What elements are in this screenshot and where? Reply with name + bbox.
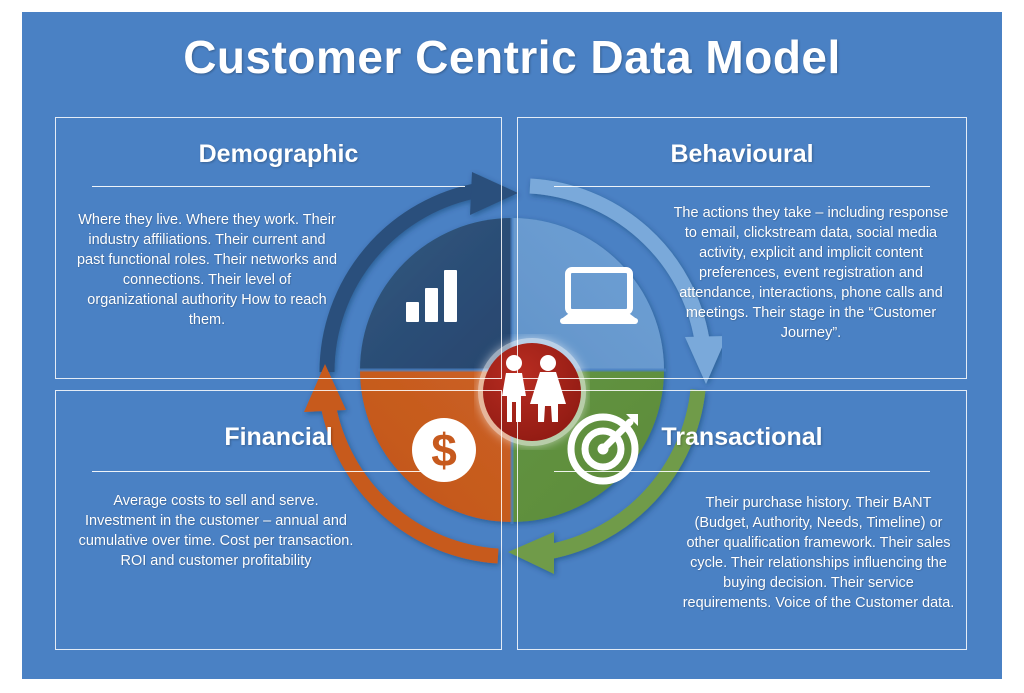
panel-behavioural-body: The actions they take – including respon… [671, 203, 951, 343]
panel-financial-body: Average costs to sell and serve. Investm… [78, 491, 354, 571]
panel-financial-rule [92, 471, 466, 472]
panel-demographic[interactable]: Demographic Where they live. Where they … [55, 117, 502, 379]
panel-transactional-heading: Transactional [518, 423, 966, 452]
panel-behavioural[interactable]: Behavioural The actions they take – incl… [517, 117, 967, 379]
panel-behavioural-heading: Behavioural [518, 140, 966, 169]
panel-behavioural-rule [554, 186, 930, 187]
page-title: Customer Centric Data Model [22, 30, 1002, 84]
panel-financial-heading: Financial [56, 423, 501, 452]
panel-transactional-rule [554, 471, 930, 472]
slide-canvas: Customer Centric Data Model [22, 12, 1002, 679]
panel-demographic-body: Where they live. Where they work. Their … [76, 210, 338, 330]
panel-demographic-rule [92, 186, 466, 187]
panel-demographic-heading: Demographic [56, 140, 501, 169]
panel-transactional[interactable]: Transactional Their purchase history. Th… [517, 390, 967, 650]
panel-financial[interactable]: Financial Average costs to sell and serv… [55, 390, 502, 650]
panel-transactional-body: Their purchase history. Their BANT (Budg… [678, 493, 959, 613]
